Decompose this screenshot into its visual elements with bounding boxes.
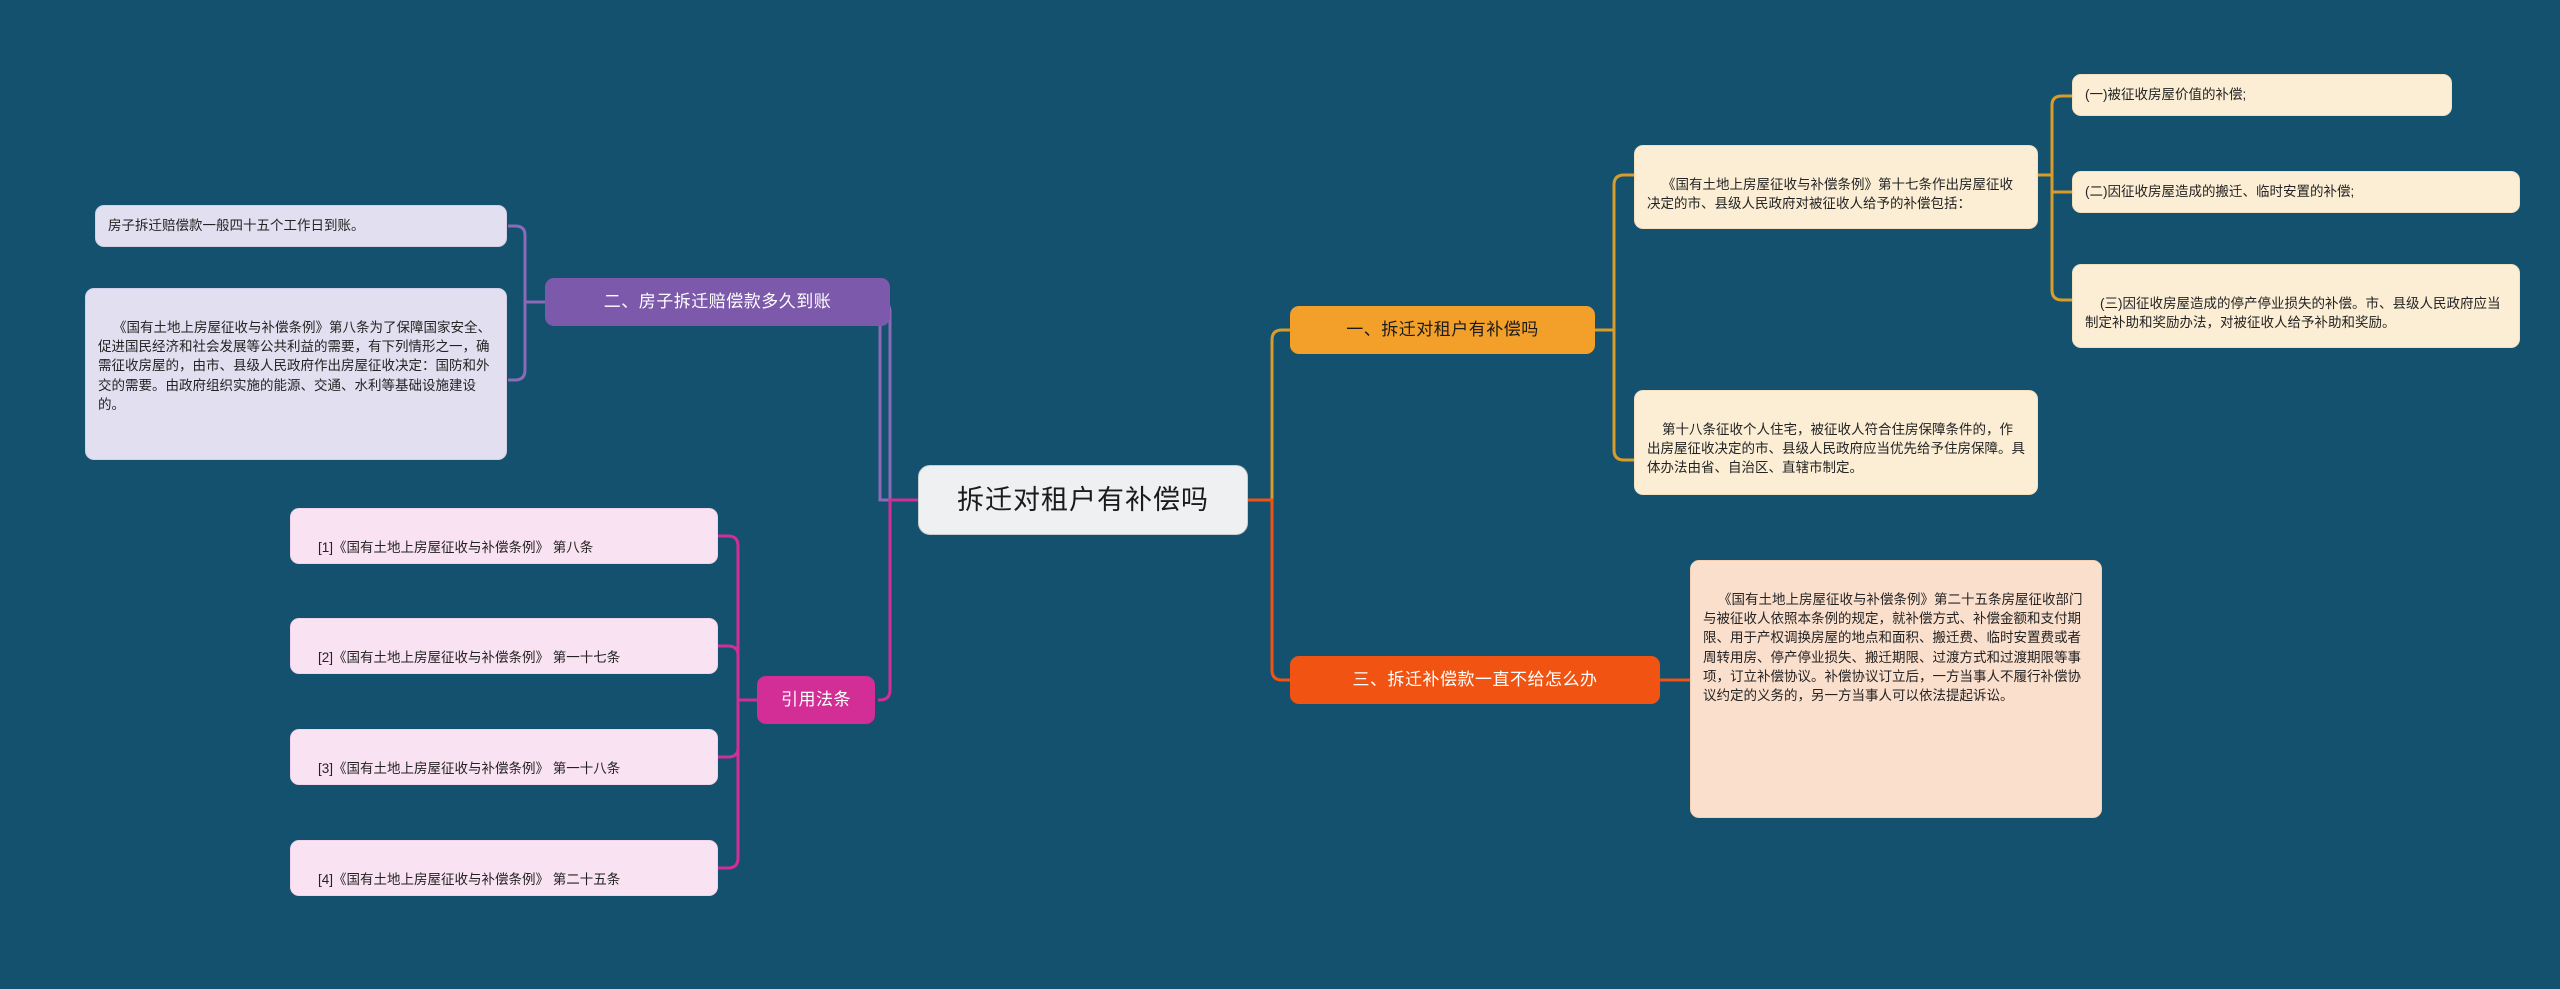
leaf-2-2[interactable]: 《国有土地上房屋征收与补偿条例》第八条为了保障国家安全、促进国民经济和社会发展等… [85,288,507,460]
leaf-2-1[interactable]: 房子拆迁赔偿款一般四十五个工作日到账。 [95,205,507,247]
leaf-2-2-label: 《国有土地上房屋征收与补偿条例》第八条为了保障国家安全、促进国民经济和社会发展等… [98,320,491,412]
edge-leaf1-to-sub-c [2038,175,2072,300]
leaf-ref-2[interactable]: [2]《国有土地上房屋征收与补偿条例》 第一十七条 [290,618,718,674]
leaf-1-1-b[interactable]: (二)因征收房屋造成的搬迁、临时安置的补偿; [2072,171,2520,213]
leaf-2-1-label: 房子拆迁赔偿款一般四十五个工作日到账。 [108,216,365,235]
branch-chip-2[interactable]: 二、房子拆迁赔偿款多久到账 [545,278,890,326]
edge-root-to-branch2 [870,300,920,500]
edge-branch1-to-leaf2 [1595,330,1634,460]
leaf-1-1-a-label: (一)被征收房屋价值的补偿; [2085,85,2246,104]
leaf-1-1-a[interactable]: (一)被征收房屋价值的补偿; [2072,74,2452,116]
leaf-3-1[interactable]: 《国有土地上房屋征收与补偿条例》第二十五条房屋征收部门与被征收人依照本条例的规定… [1690,560,2102,818]
leaf-1-1[interactable]: 《国有土地上房屋征收与补偿条例》第十七条作出房屋征收决定的市、县级人民政府对被征… [1634,145,2038,229]
edge-root-to-branch1 [1245,330,1290,500]
leaf-ref-3[interactable]: [3]《国有土地上房屋征收与补偿条例》 第一十八条 [290,729,718,785]
edge-root-to-branch3 [1245,500,1290,680]
leaf-ref-1-label: [1]《国有土地上房屋征收与补偿条例》 第八条 [318,540,593,555]
edge-branch1-to-leaf1 [1595,175,1634,330]
branch-chip-1[interactable]: 一、拆迁对租户有补偿吗 [1290,306,1595,354]
edge-branch2-to-leaf1 [508,226,545,302]
leaf-3-1-label: 《国有土地上房屋征收与补偿条例》第二十五条房屋征收部门与被征收人依照本条例的规定… [1703,592,2083,703]
leaf-1-1-c[interactable]: (三)因征收房屋造成的停产停业损失的补偿。市、县级人民政府应当制定补助和奖励办法… [2072,264,2520,348]
edge-leaf1-to-sub-a [2038,96,2072,175]
leaf-1-1-label: 《国有土地上房屋征收与补偿条例》第十七条作出房屋征收决定的市、县级人民政府对被征… [1647,177,2013,211]
edge-refs-to-leaf4 [718,700,757,868]
edge-refs-to-leaf3 [718,700,757,757]
edge-refs-to-leaf1 [718,536,757,700]
leaf-1-1-b-label: (二)因征收房屋造成的搬迁、临时安置的补偿; [2085,182,2354,201]
leaf-1-2-label: 第十八条征收个人住宅，被征收人符合住房保障条件的，作出房屋征收决定的市、县级人民… [1647,422,2025,475]
branch-chip-refs-label: 引用法条 [781,688,851,712]
leaf-ref-1[interactable]: [1]《国有土地上房屋征收与补偿条例》 第八条 [290,508,718,564]
leaf-ref-4[interactable]: [4]《国有土地上房屋征收与补偿条例》 第二十五条 [290,840,718,896]
leaf-1-1-c-label: (三)因征收房屋造成的停产停业损失的补偿。市、县级人民政府应当制定补助和奖励办法… [2085,296,2501,330]
edge-leaf1-to-sub-b [2038,175,2072,192]
edge-root-to-branch2-b [878,302,920,500]
branch-chip-2-label: 二、房子拆迁赔偿款多久到账 [604,290,832,314]
root-node[interactable]: 拆迁对租户有补偿吗 [918,465,1248,535]
mindmap-canvas: 拆迁对租户有补偿吗 二、房子拆迁赔偿款多久到账 房子拆迁赔偿款一般四十五个工作日… [0,0,2560,989]
branch-chip-refs[interactable]: 引用法条 [757,676,875,724]
branch-chip-3[interactable]: 三、拆迁补偿款一直不给怎么办 [1290,656,1660,704]
leaf-ref-4-label: [4]《国有土地上房屋征收与补偿条例》 第二十五条 [318,872,620,887]
edge-branch2-to-leaf2 [508,302,545,380]
root-label: 拆迁对租户有补偿吗 [957,481,1209,519]
branch-chip-1-label: 一、拆迁对租户有补偿吗 [1346,318,1539,342]
edge-refs-to-leaf2 [718,646,757,700]
branch-chip-3-label: 三、拆迁补偿款一直不给怎么办 [1353,668,1598,692]
edge-root-to-refs [878,500,920,700]
leaf-ref-3-label: [3]《国有土地上房屋征收与补偿条例》 第一十八条 [318,761,620,776]
leaf-1-2[interactable]: 第十八条征收个人住宅，被征收人符合住房保障条件的，作出房屋征收决定的市、县级人民… [1634,390,2038,495]
leaf-ref-2-label: [2]《国有土地上房屋征收与补偿条例》 第一十七条 [318,650,620,665]
